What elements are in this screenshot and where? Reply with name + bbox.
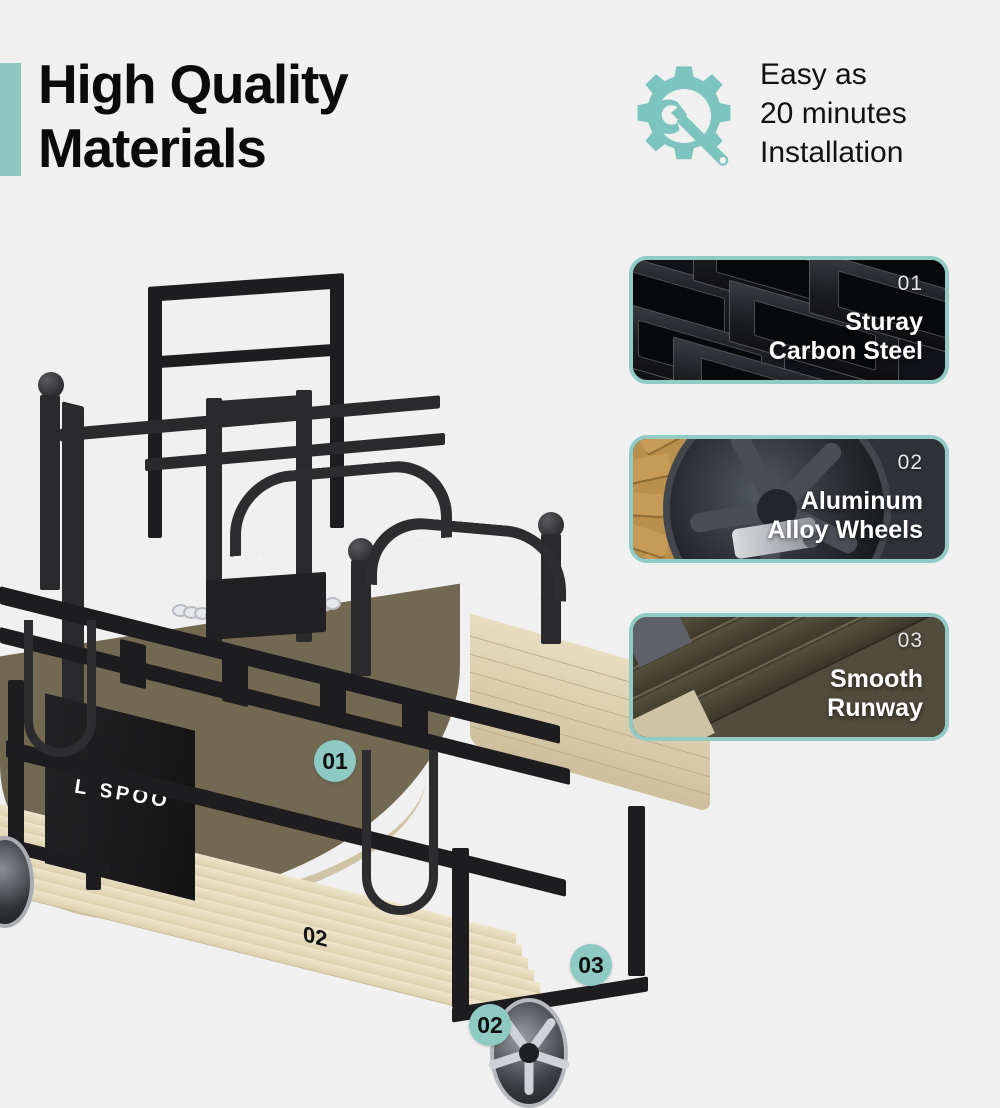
install-line-3: Installation <box>760 133 980 172</box>
feature-card-02-number: 02 <box>898 451 923 475</box>
feature-card-02-label-line-2: Alloy Wheels <box>767 516 923 545</box>
feature-card-03-label: Smooth Runway <box>827 665 923 723</box>
installation-text: Easy as 20 minutes Installation <box>760 55 980 172</box>
feature-card-03-label-line-1: Smooth <box>827 665 923 694</box>
install-line-1: Easy as <box>760 55 980 94</box>
teal-accent-bar <box>0 63 21 176</box>
feature-card-02-label-line-1: Aluminum <box>767 487 923 516</box>
callout-badge-02[interactable]: 02 <box>469 1004 511 1046</box>
feature-card-02-label: Aluminum Alloy Wheels <box>767 487 923 545</box>
feature-card-03-number: 03 <box>898 629 923 653</box>
page-title-line-1: High Quality <box>38 53 348 115</box>
infographic-stage: High Quality Materials Easy as 20 minute… <box>0 0 1000 1000</box>
product-image: LISPOO <box>0 250 720 1000</box>
feature-card-01-label-line-2: Carbon Steel <box>769 337 923 366</box>
install-line-2: 20 minutes <box>760 94 980 133</box>
installation-callout: Easy as 20 minutes Installation <box>630 58 980 178</box>
feature-card-03-label-line-2: Runway <box>827 694 923 723</box>
feature-card-01-label-line-1: Sturay <box>769 308 923 337</box>
page-title-line-2: Materials <box>38 116 598 180</box>
feature-card-02[interactable]: 02 Aluminum Alloy Wheels <box>629 435 949 563</box>
gear-wrench-icon <box>630 62 738 170</box>
feature-card-01-number: 01 <box>898 272 923 296</box>
callout-badge-01[interactable]: 01 <box>314 740 356 782</box>
alloy-wheel-rear <box>0 836 34 928</box>
feature-card-01-label: Sturay Carbon Steel <box>769 308 923 366</box>
page-title: High Quality Materials <box>38 52 598 180</box>
callout-badge-03[interactable]: 03 <box>570 944 612 986</box>
feature-card-03[interactable]: 03 Smooth Runway <box>629 613 949 741</box>
feature-card-01[interactable]: 01 Sturay Carbon Steel <box>629 256 949 384</box>
